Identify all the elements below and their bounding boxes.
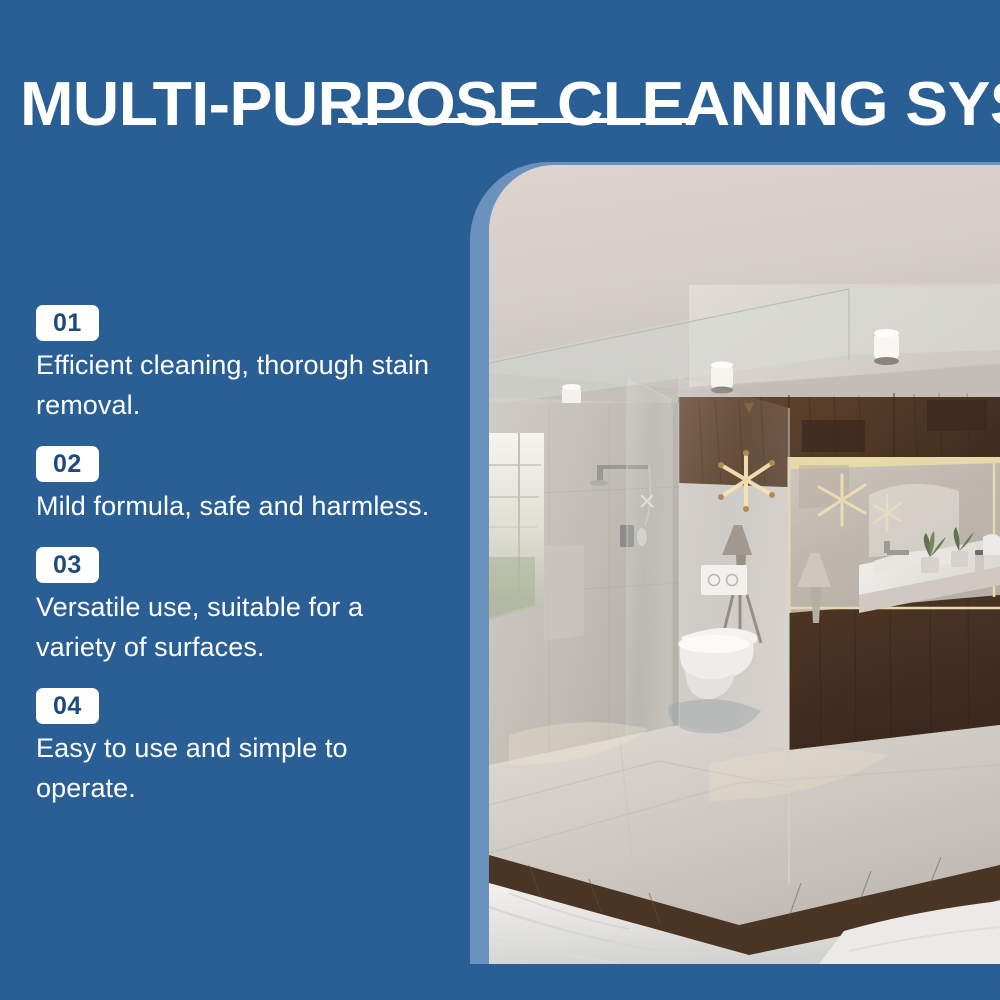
feature-description: Versatile use, suitable for a variety of… — [36, 587, 446, 667]
product-photo-frame — [470, 162, 1000, 964]
poster-canvas: MULTI-PURPOSE CLEANING SYSTEM 01 Efficie… — [0, 0, 1000, 1000]
feature-description: Efficient cleaning, thorough stain remov… — [36, 345, 446, 425]
bathroom-photo — [489, 165, 1000, 964]
feature-description: Mild formula, safe and harmless. — [36, 486, 446, 526]
list-item: 03 Versatile use, suitable for a variety… — [36, 547, 446, 667]
list-item: 02 Mild formula, safe and harmless. — [36, 446, 446, 526]
feature-list: 01 Efficient cleaning, thorough stain re… — [36, 305, 446, 829]
list-item: 04 Easy to use and simple to operate. — [36, 688, 446, 808]
page-title: MULTI-PURPOSE CLEANING SYSTEM — [20, 70, 1000, 140]
title-underline — [338, 118, 692, 123]
feature-number-badge: 04 — [36, 688, 99, 724]
feature-number-badge: 03 — [36, 547, 99, 583]
feature-description: Easy to use and simple to operate. — [36, 728, 446, 808]
feature-number-badge: 01 — [36, 305, 99, 341]
feature-number-badge: 02 — [36, 446, 99, 482]
list-item: 01 Efficient cleaning, thorough stain re… — [36, 305, 446, 425]
